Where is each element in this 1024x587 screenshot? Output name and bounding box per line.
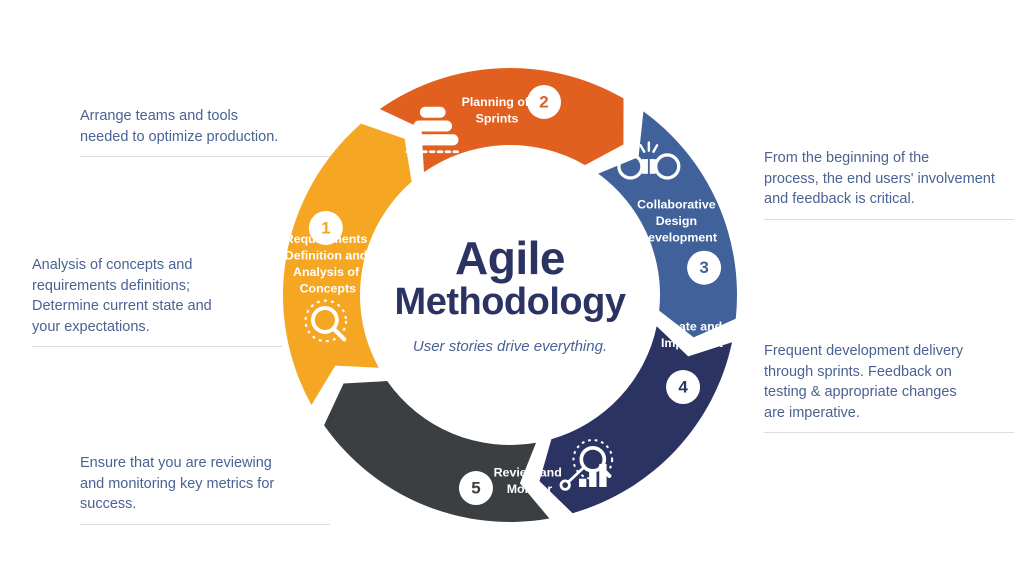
agile-cycle-wheel: Requirements Definition and Analysis of … bbox=[245, 45, 775, 545]
description-divider bbox=[764, 219, 1014, 220]
segment-1-badge: 1 bbox=[309, 211, 343, 245]
segment-3-badge: 3 bbox=[687, 251, 721, 285]
description-text: From the beginning of the process, the e… bbox=[764, 148, 1014, 210]
segment-4-number: 4 bbox=[678, 378, 688, 397]
segment-1-number: 1 bbox=[321, 218, 330, 237]
segment-5-badge: 5 bbox=[459, 471, 493, 505]
segment-2-badge: 2 bbox=[527, 85, 561, 119]
description-divider bbox=[764, 432, 1014, 433]
segment-2-number: 2 bbox=[539, 92, 548, 111]
description-text: Frequent development delivery through sp… bbox=[764, 341, 1014, 423]
segment-5-number: 5 bbox=[471, 479, 480, 498]
segment-3-number: 3 bbox=[699, 258, 708, 277]
infographic-canvas: Arrange teams and tools needed to optimi… bbox=[0, 0, 1024, 587]
wheel-inner-hub bbox=[362, 147, 658, 443]
segment-4-badge: 4 bbox=[666, 370, 700, 404]
description-block-create: Frequent development delivery through sp… bbox=[764, 341, 1014, 433]
description-block-collaborative: From the beginning of the process, the e… bbox=[764, 148, 1014, 220]
